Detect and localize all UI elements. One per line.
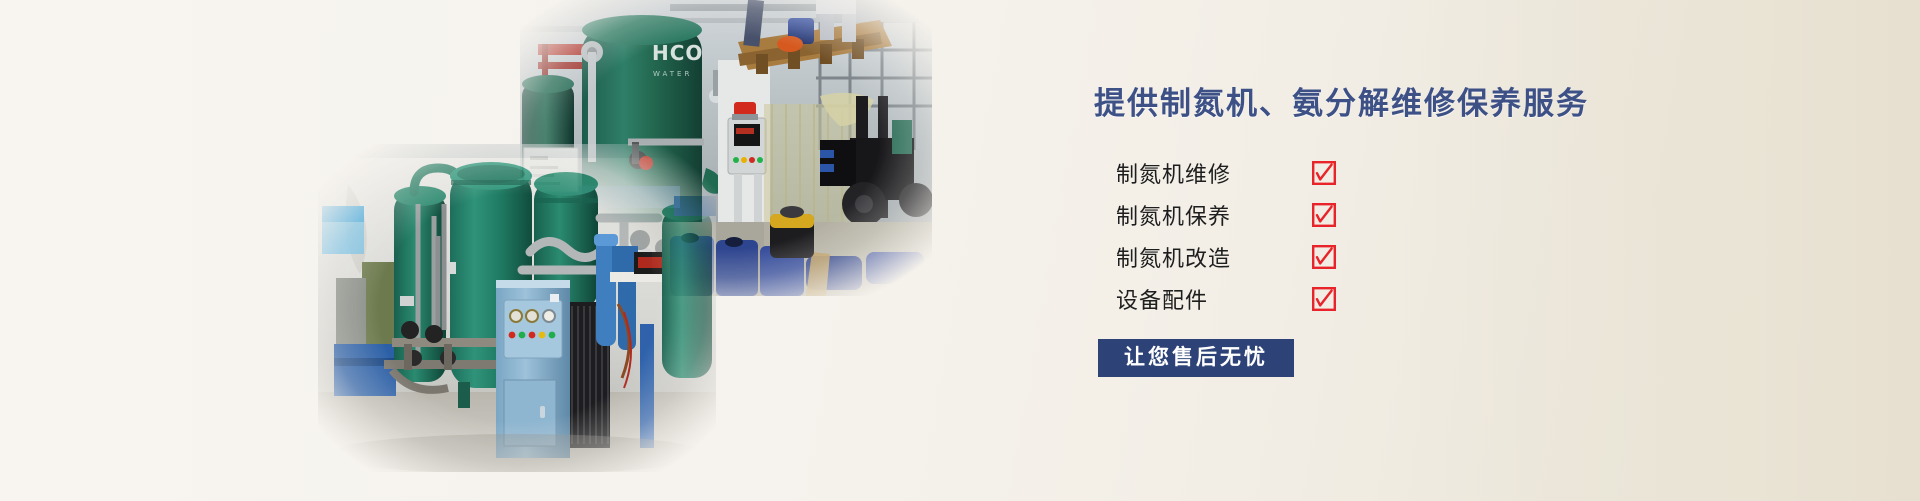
background-left-wash <box>0 0 340 501</box>
service-label: 制氮机保养 <box>1116 199 1312 231</box>
list-item[interactable]: 制氮机改造 <box>1116 241 1650 273</box>
banner-copy-column: 提供制氮机、氨分解维修保养服务 制氮机维修 制氮机保养 <box>1090 78 1650 377</box>
nitrogen-generator-skid-photo <box>318 144 716 472</box>
checkbox-checked-icon[interactable] <box>1312 203 1336 227</box>
list-item[interactable]: 制氮机维修 <box>1116 157 1650 189</box>
checkbox-checked-icon[interactable] <box>1312 245 1336 269</box>
after-sales-cta-button[interactable]: 让您售后无忧 <box>1098 339 1294 377</box>
service-label: 制氮机维修 <box>1116 157 1312 189</box>
service-label: 设备配件 <box>1116 283 1312 315</box>
service-label: 制氮机改造 <box>1116 241 1312 273</box>
svg-text:HCO: HCO <box>652 41 703 65</box>
list-item[interactable]: 制氮机保养 <box>1116 199 1650 231</box>
checkbox-checked-icon[interactable] <box>1312 161 1336 185</box>
svg-text:WATER: WATER <box>653 70 692 78</box>
checkbox-checked-icon[interactable] <box>1312 287 1336 311</box>
page-title: 提供制氮机、氨分解维修保养服务 <box>1094 78 1650 123</box>
list-item[interactable]: 设备配件 <box>1116 283 1650 315</box>
service-promo-banner: HCO WATER <box>0 0 1920 501</box>
service-list: 制氮机维修 制氮机保养 制氮机改造 <box>1116 157 1650 315</box>
